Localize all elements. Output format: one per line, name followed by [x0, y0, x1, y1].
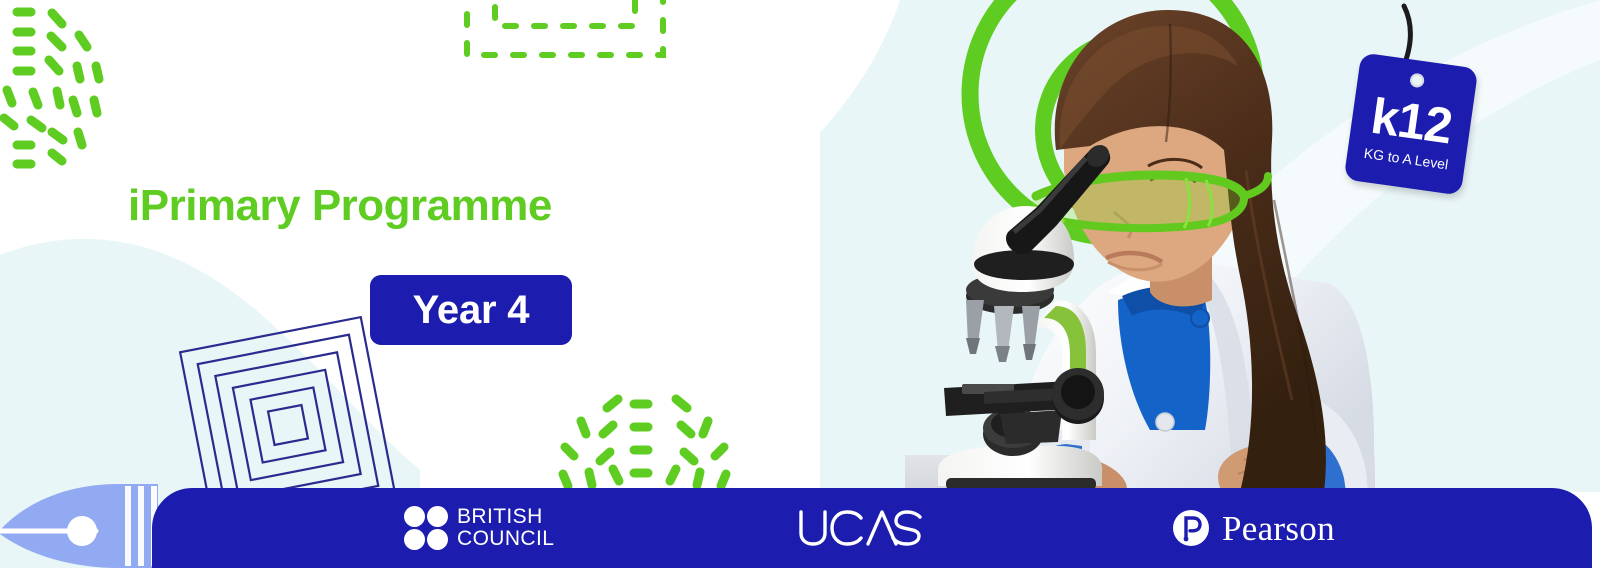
british-council-dots-icon: [404, 506, 448, 550]
british-council-line1: BRITISH: [457, 506, 554, 528]
pearson-interrobang-icon: [1172, 509, 1210, 547]
partner-logo-bar: BRITISH COUNCIL: [152, 488, 1592, 568]
logo-pearson: Pearson: [1172, 488, 1335, 568]
logo-ucas: [795, 488, 925, 568]
k12-title: k12: [1350, 88, 1474, 154]
tag-hole-icon: [1409, 73, 1425, 89]
logo-british-council: BRITISH COUNCIL: [404, 488, 554, 568]
k12-tag: k12 KG to A Level: [1344, 52, 1479, 195]
ucas-wordmark: [795, 506, 925, 550]
promo-banner: iPrimary Programme Year 4 k12 KG to A Le…: [0, 0, 1600, 568]
pearson-wordmark: Pearson: [1222, 511, 1335, 546]
british-council-line2: COUNCIL: [457, 528, 554, 550]
british-council-wordmark: BRITISH COUNCIL: [457, 506, 554, 550]
